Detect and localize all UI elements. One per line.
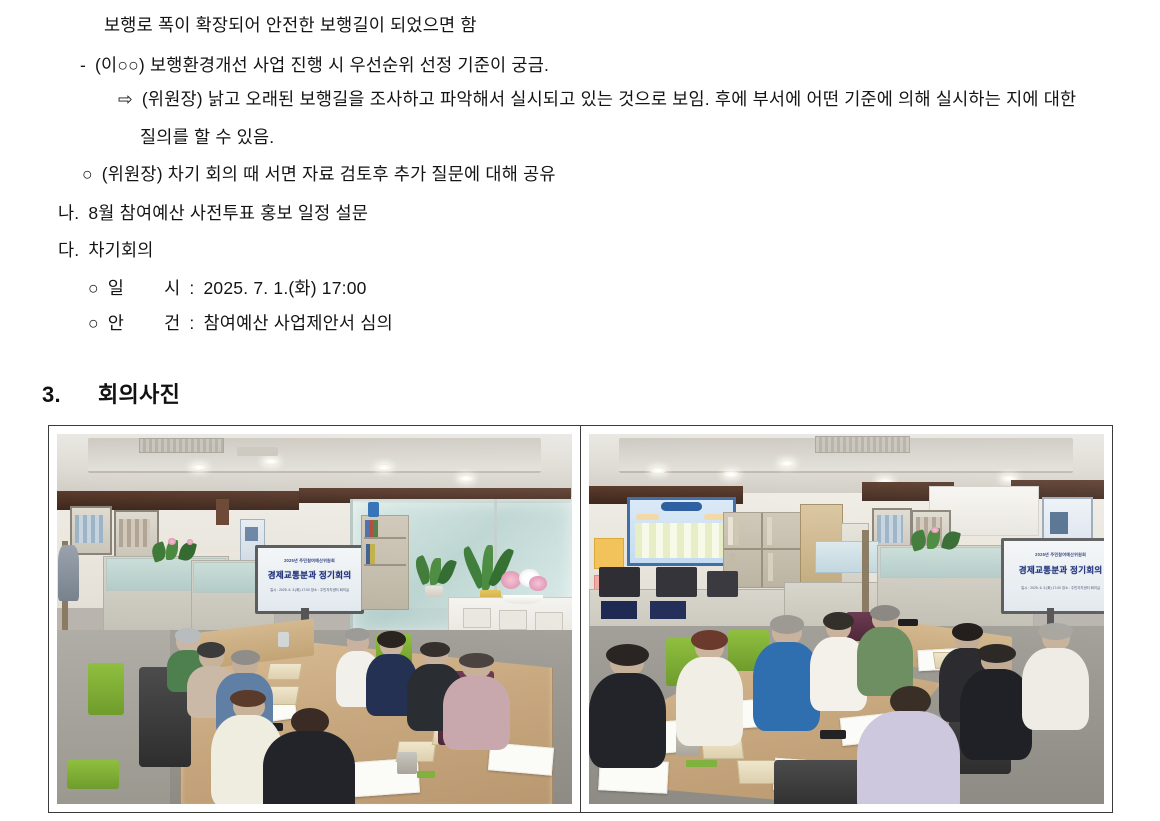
minutes-line-dash: -(이○○) 보행환경개선 사업 진행 시 우선순위 선정 기준이 궁금.: [80, 57, 549, 75]
meeting-photo-left: 2025년 주민참여예산위원회 경제교통분과 정기회의 일시 : 2025. 6…: [57, 434, 572, 804]
window: [815, 541, 879, 573]
arrow-right-icon: ⇨: [118, 91, 133, 109]
wall-column: [216, 499, 229, 525]
bookshelf: [361, 515, 409, 610]
next-meeting-agenda-row: ○안건:참여예산 사업제안서 심의: [88, 315, 393, 333]
notice-photos: [75, 515, 103, 543]
tumbler: [397, 752, 418, 774]
cabinet-drawer: [535, 612, 563, 633]
ceiling-light: [779, 460, 795, 467]
participant: [1022, 626, 1089, 722]
bullet-circle-marker: ○: [88, 280, 99, 298]
poster-image: [245, 527, 258, 542]
green-marker: [417, 771, 435, 778]
ceiling-light: [263, 458, 279, 465]
monitor: [599, 567, 640, 597]
ceiling-vent: [139, 438, 223, 453]
minutes-line-text: 질의를 할 수 있음.: [140, 127, 274, 147]
ceiling-light: [458, 475, 474, 482]
shelf-item-blue: [368, 502, 378, 517]
next-meeting-agenda-label: 안: [108, 313, 124, 333]
chair-green: [67, 760, 118, 790]
bullet-dash-marker: -: [80, 57, 86, 75]
cabinet-drawer: [463, 608, 491, 629]
cubicle-plants: [908, 527, 975, 553]
ceiling-light: [191, 464, 207, 471]
next-meeting-date-separator: :: [189, 278, 194, 298]
photo-cell-right: 2025년 주민참여예산위원회 경제교통분과 정기회의 일시 : 2025. 6…: [581, 426, 1113, 812]
next-meeting-date-row: ○일시:2025. 7. 1.(화) 17:00: [88, 280, 367, 298]
minutes-item-text: 8월 참여예산 사전투표 홍보 일정 설문: [88, 203, 368, 223]
next-meeting-date-field: 시: [164, 278, 180, 298]
item-marker-da: 다.: [58, 242, 79, 260]
item-marker-na: 나.: [58, 205, 79, 223]
coat-rack: [862, 530, 869, 611]
section-title: 회의사진: [76, 377, 180, 409]
flower-arrangement: [489, 567, 556, 604]
bullet-circle-marker: ○: [88, 315, 99, 333]
photo-cell-left: 2025년 주민참여예산위원회 경제교통분과 정기회의 일시 : 2025. 6…: [49, 426, 581, 812]
next-meeting-agenda-field: 건: [164, 313, 180, 333]
info-poster-board: [627, 497, 736, 566]
next-meeting-date-label: 일: [108, 278, 124, 298]
participant: [676, 634, 743, 738]
banner-main-text: 경제교통분과 정기회의: [1007, 564, 1104, 576]
next-meeting-date-value: 2025. 7. 1.(화) 17:00: [203, 278, 366, 298]
chair-mesh: [774, 760, 867, 804]
ceiling-vent: [815, 436, 910, 453]
participant: [443, 656, 510, 745]
minutes-line-arrow-continuation: 질의를 할 수 있음.: [140, 129, 274, 147]
cubicle-plants: [150, 538, 212, 564]
meeting-photo-right: 2025년 주민참여예산위원회 경제교통분과 정기회의 일시 : 2025. 6…: [589, 434, 1105, 804]
bullet-circle-marker: ○: [82, 166, 93, 184]
banner-top-text: 2025년 주민참여예산위원회: [1011, 552, 1104, 558]
banner-main-text: 경제교통분과 정기회의: [261, 569, 358, 581]
monitor: [656, 567, 697, 597]
banner-top-text: 2025년 주민참여예산위원회: [264, 558, 355, 564]
notice-photos: [119, 519, 150, 547]
presentation-board: 2025년 주민참여예산위원회 경제교통분과 정기회의 일시 : 2025. 6…: [1001, 538, 1104, 614]
green-marker: [686, 760, 717, 767]
chair-green: [88, 663, 124, 715]
presentation-board: 2025년 주민참여예산위원회 경제교통분과 정기회의 일시 : 2025. 6…: [255, 545, 364, 614]
ceiling-light: [376, 464, 392, 471]
section-heading-photos: 3.회의사진: [42, 377, 180, 409]
potted-plant: [412, 556, 458, 597]
water-bottle: [278, 632, 288, 647]
section-number: 3.: [42, 382, 76, 408]
monitor: [707, 571, 738, 597]
minutes-line-arrow: ⇨(위원장) 낡고 오래된 보행길을 조사하고 파악해서 실시되고 있는 것으로…: [118, 91, 1076, 109]
ceiling-speaker: [237, 447, 278, 456]
next-meeting-agenda-value: 참여예산 사업제안서 심의: [203, 313, 392, 333]
minutes-item-na: 나.8월 참여예산 사전투표 홍보 일정 설문: [58, 205, 368, 223]
notice-photos: [877, 515, 903, 543]
minutes-line-text: 보행로 폭이 확장되어 안전한 보행길이 되었으면 함: [104, 15, 477, 35]
minutes-item-text: 차기회의: [88, 240, 153, 260]
banner-sub-text: 일시 : 2025. 6. 3.(화) 17:00 장소 : 주민자치센터 회의…: [268, 588, 350, 593]
smartphone: [820, 730, 846, 739]
next-meeting-agenda-separator: :: [189, 313, 194, 333]
wall-memo: [594, 538, 624, 570]
participant: [589, 649, 666, 760]
participant: [263, 708, 356, 804]
ceiling-light: [723, 471, 739, 478]
banner-sub-text: 일시 : 2025. 6. 3.(화) 17:00 장소 : 주민자치센터 회의…: [1015, 586, 1104, 591]
minutes-item-da: 다.차기회의: [58, 242, 154, 260]
minutes-line-text: (이○○) 보행환경개선 사업 진행 시 우선순위 선정 기준이 궁금.: [95, 55, 549, 75]
minutes-line-text: (위원장) 낡고 오래된 보행길을 조사하고 파악해서 실시되고 있는 것으로 …: [142, 89, 1076, 109]
minutes-line-circle: ○(위원장) 차기 회의 때 서면 자료 검토후 추가 질문에 대해 공유: [82, 166, 556, 184]
cabinet-drawer: [499, 610, 527, 631]
minutes-line-continuation: 보행로 폭이 확장되어 안전한 보행길이 되었으면 함: [104, 17, 477, 35]
desk-item: [601, 601, 637, 620]
participant: [857, 608, 914, 689]
poster-image: [1050, 512, 1068, 534]
desk-item: [650, 601, 686, 620]
hanging-coat: [58, 545, 79, 601]
meeting-photo-table: 2025년 주민참여예산위원회 경제교통분과 정기회의 일시 : 2025. 6…: [48, 425, 1113, 813]
minutes-line-text: (위원장) 차기 회의 때 서면 자료 검토후 추가 질문에 대해 공유: [102, 164, 556, 184]
